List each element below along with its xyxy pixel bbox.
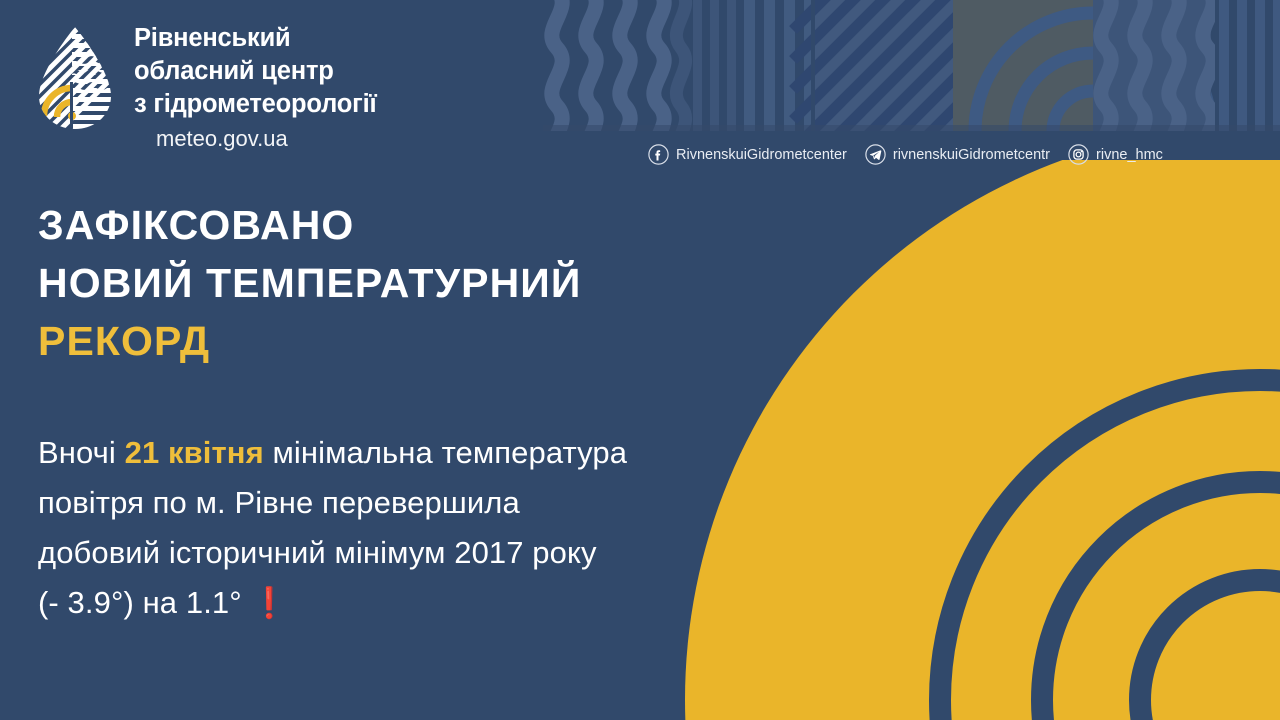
- telegram-icon: [865, 144, 886, 165]
- body-line-4-text: (- 3.9°) на 1.1°: [38, 585, 250, 620]
- headline-line-1: ЗАФІКСОВАНО: [38, 196, 838, 254]
- instagram-handle: rivne_hmc: [1096, 146, 1163, 164]
- decorative-pattern-band: [543, 0, 1280, 131]
- water-droplet-meteo-logo-icon: [36, 26, 114, 130]
- social-link-telegram[interactable]: rivnenskuiGidrometcentr: [865, 144, 1050, 165]
- body-line-1: Вночі 21 квітня мінімальна температура: [38, 428, 868, 478]
- headline-line-2: НОВИЙ ТЕМПЕРАТУРНИЙ: [38, 254, 838, 312]
- body-line-1-prefix: Вночі: [38, 435, 125, 470]
- highlighted-date: 21 квітня: [125, 435, 264, 470]
- brand-logo-text: Рівненський обласний центр з гідрометеор…: [134, 22, 376, 154]
- poster-canvas: Рівненський обласний центр з гідрометеор…: [0, 0, 1280, 720]
- brand-name-line-3: з гідрометеорології: [134, 88, 376, 121]
- telegram-handle: rivnenskuiGidrometcentr: [893, 146, 1050, 164]
- body-line-2: повітря по м. Рівне перевершила: [38, 478, 868, 528]
- body-line-4: (- 3.9°) на 1.1° ❗: [38, 578, 868, 629]
- social-link-instagram[interactable]: rivne_hmc: [1068, 144, 1163, 165]
- social-links-row: RivnenskuiGidrometcenter rivnenskuiGidro…: [648, 144, 1163, 165]
- facebook-icon: [648, 144, 669, 165]
- headline-block: ЗАФІКСОВАНО НОВИЙ ТЕМПЕРАТУРНИЙ РЕКОРД: [38, 196, 838, 370]
- brand-website-url[interactable]: meteo.gov.ua: [156, 124, 376, 154]
- announcement-body-text: Вночі 21 квітня мінімальна температура п…: [38, 428, 868, 629]
- body-line-1-suffix: мінімальна температура: [264, 435, 627, 470]
- exclamation-mark-icon: ❗: [250, 587, 287, 620]
- brand-logo-block: Рівненський обласний центр з гідрометеор…: [36, 22, 376, 154]
- brand-name-line-2: обласний центр: [134, 55, 376, 88]
- facebook-handle: RivnenskuiGidrometcenter: [676, 146, 847, 164]
- instagram-icon: [1068, 144, 1089, 165]
- brand-name-line-1: Рівненський: [134, 22, 376, 55]
- headline-line-3-record: РЕКОРД: [38, 312, 838, 370]
- social-link-facebook[interactable]: RivnenskuiGidrometcenter: [648, 144, 847, 165]
- body-line-3: добовий історичний мінімум 2017 року: [38, 528, 868, 578]
